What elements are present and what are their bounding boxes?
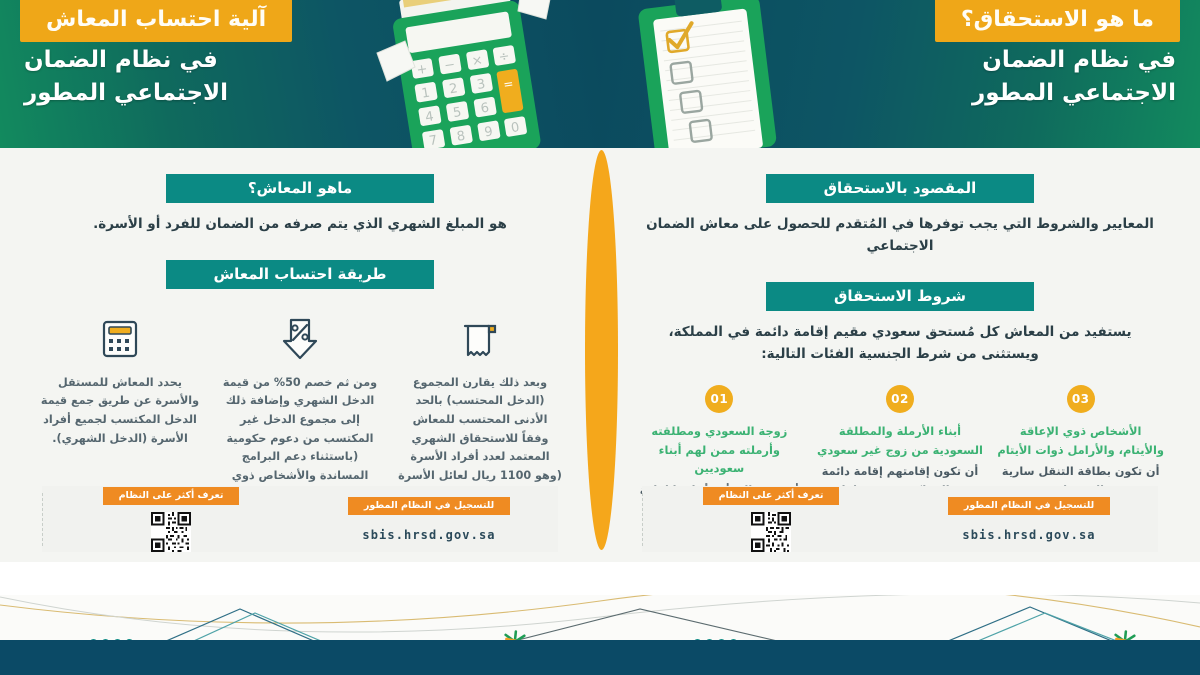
panel-body-eligibility: المقصود بالاستحقاق المعايير والشروط التي… <box>600 148 1200 562</box>
heading-calculation-method: طريقة احتساب المعاش <box>166 260 434 289</box>
footer-learn-more-eligibility[interactable]: تعرف أكثر على النظام <box>642 487 900 552</box>
footer-strip-eligibility: للتسجيل في النظام المطور sbis.hrsd.gov.s… <box>642 486 1158 552</box>
footer-url[interactable]: sbis.hrsd.gov.sa <box>962 528 1095 542</box>
text-what-is-pension: هو المبلغ الشهري الذي يتم صرفه من الضمان… <box>40 214 560 236</box>
panel-header-title-eligibility: في نظام الضمان الاجتماعي المطور <box>846 44 1176 109</box>
footer-register-label: للتسجيل في النظام المطور <box>948 497 1110 515</box>
receipt-icon <box>398 306 562 362</box>
panel-header-title-pension: في نظام الضمان الاجتماعي المطور <box>24 44 354 109</box>
category-number-3: 03 <box>1067 385 1095 413</box>
category-number-1: 01 <box>705 385 733 413</box>
footer-register-pension[interactable]: للتسجيل في النظام المطور sbis.hrsd.gov.s… <box>300 497 558 542</box>
header-line-1: في نظام الضمان <box>24 44 354 77</box>
svg-text:×: × <box>471 53 484 70</box>
panel-badge-eligibility: ما هو الاستحقاق؟ <box>935 0 1180 42</box>
category-title-1: زوجة السعودي ومطلقته وأرملته ممن لهم أبن… <box>636 422 803 477</box>
percent-down-arrow-icon <box>218 306 382 362</box>
heading-eligibility-conditions: شروط الاستحقاق <box>766 282 1034 311</box>
footer-strip-pension: للتسجيل في النظام المطور sbis.hrsd.gov.s… <box>42 486 558 552</box>
calculation-step-2-text: ومن ثم خصم 50% من قيمة الدخل الشهري وإضا… <box>218 374 382 504</box>
category-title-3: الأشخاص ذوي الإعاقة والأيتام، والأرامل ذ… <box>997 422 1164 459</box>
footer-learn-more-label: تعرف أكثر على النظام <box>103 487 240 505</box>
category-title-2: أبناء الأرملة والمطلقة السعودية من زوج غ… <box>817 422 984 459</box>
clipboard-illustration <box>626 0 816 148</box>
heading-what-is-pension: ماهو المعاش؟ <box>166 174 434 203</box>
panel-header-pension: +−×÷ 123 456 7890 = آلية احتساب المعاش <box>0 0 600 148</box>
footer-learn-more-pension[interactable]: تعرف أكثر على النظام <box>42 487 300 552</box>
infographic-canvas: +−×÷ 123 456 7890 = آلية احتساب المعاش <box>0 0 1200 675</box>
panel-eligibility: ما هو الاستحقاق؟ في نظام الضمان الاجتماع… <box>600 0 1200 640</box>
calculation-step-1-text: يحدد المعاش للمستقل والأسرة عن طريق جمع … <box>38 374 202 448</box>
footer-register-eligibility[interactable]: للتسجيل في النظام المطور sbis.hrsd.gov.s… <box>900 497 1158 542</box>
heading-meaning-of-eligibility: المقصود بالاستحقاق <box>766 174 1034 203</box>
category-number-2: 02 <box>886 385 914 413</box>
panel-body-pension: ماهو المعاش؟ هو المبلغ الشهري الذي يتم ص… <box>0 148 600 562</box>
header-line-2: الاجتماعي المطور <box>24 77 354 110</box>
svg-text:÷: ÷ <box>497 49 510 66</box>
center-ellipse-divider <box>585 150 618 550</box>
svg-text:−: − <box>443 57 456 74</box>
footer-url[interactable]: sbis.hrsd.gov.sa <box>362 528 495 542</box>
calculator-icon <box>38 306 202 362</box>
panel-header-eligibility: ما هو الاستحقاق؟ في نظام الضمان الاجتماع… <box>600 0 1200 148</box>
header-line-1: في نظام الضمان <box>846 44 1176 77</box>
svg-text:+: + <box>416 62 429 79</box>
calculator-illustration: +−×÷ 123 456 7890 = <box>372 0 582 148</box>
qr-code-icon[interactable] <box>751 512 791 552</box>
text-eligibility-conditions: يستفيد من المعاش كل مُستحق سعودي مقيم إق… <box>640 322 1160 366</box>
bottom-bar <box>0 640 1200 675</box>
qr-code-icon[interactable] <box>151 512 191 552</box>
panel-badge-pension: آلية احتساب المعاش <box>20 0 292 42</box>
footer-register-label: للتسجيل في النظام المطور <box>348 497 510 515</box>
header-line-2: الاجتماعي المطور <box>846 77 1176 110</box>
text-meaning-of-eligibility: المعايير والشروط التي يجب توفرها في المُ… <box>640 214 1160 258</box>
footer-learn-more-label: تعرف أكثر على النظام <box>703 487 840 505</box>
panel-pension-calculation: +−×÷ 123 456 7890 = آلية احتساب المعاش <box>0 0 600 640</box>
